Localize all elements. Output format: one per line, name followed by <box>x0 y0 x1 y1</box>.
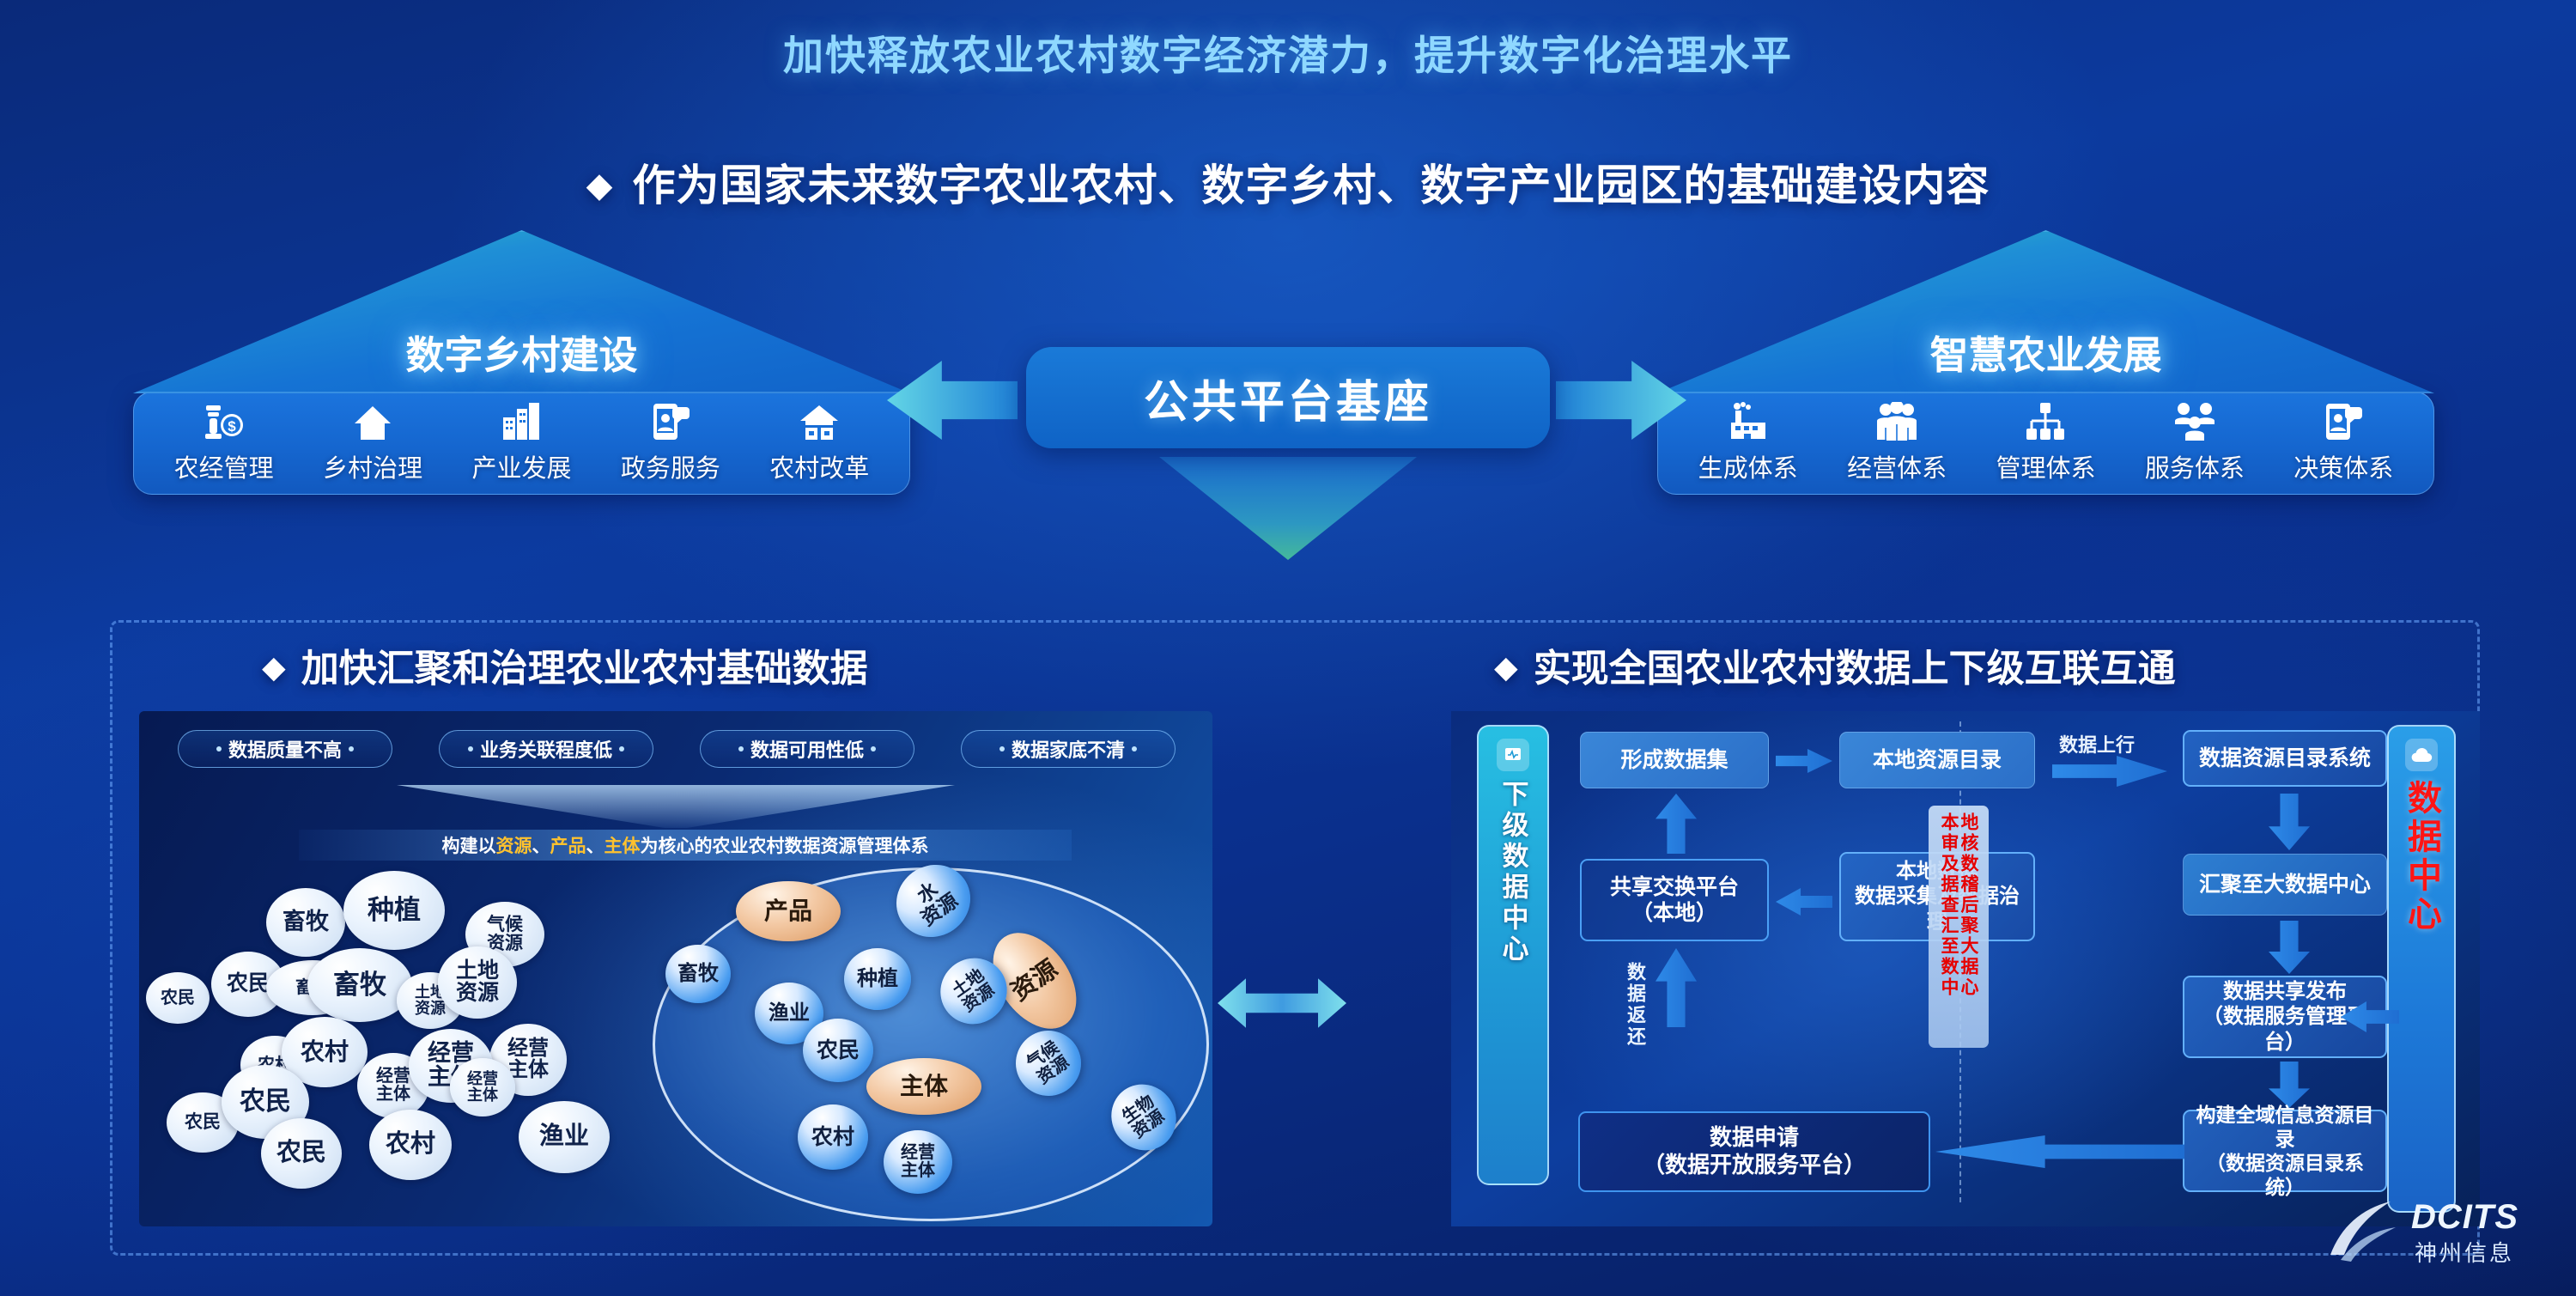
house-smart-agriculture: 智慧农业发展 生成体系 <box>1657 230 2434 495</box>
box-label: 数据资源目录系统 <box>2199 745 2371 772</box>
chaos-bubble: 农民 <box>146 972 210 1024</box>
chaotic-bubble-cloud: 农民农民畜牧畜牧种植气候 资源畜牧土地 资源土地 资源经营 主体农村农村经营 主… <box>139 871 689 1226</box>
feature-item-production-system[interactable]: 生成体系 <box>1677 402 1820 484</box>
bullet-dot-icon <box>871 746 876 751</box>
box-share-exchange-platform[interactable]: 共享交换平台 （本地） <box>1580 859 1769 941</box>
arrow-down-icon <box>2269 921 2310 974</box>
section-heading-left-text: 加快汇聚和治理农业农村基础数据 <box>301 648 868 690</box>
feature-label: 经营体系 <box>1847 448 1947 484</box>
problem-chip[interactable]: 业务关联程度低 <box>439 730 653 768</box>
banner-highlight-product: 产品 <box>550 832 586 858</box>
data-interconnect-panel: 下级数据中心 数据中心 形成数据集 本地资源目录 数据上行 数据资源目录系统 共… <box>1451 711 2480 1226</box>
mobile-service-icon <box>650 402 691 441</box>
arrow-left-icon <box>1935 1135 2184 1168</box>
feature-item-agri-econ[interactable]: $ 农经管理 <box>153 402 295 484</box>
bullet-dot-icon <box>216 746 222 751</box>
box-label: 本地资源目录 <box>1873 747 2002 774</box>
box-local-catalog[interactable]: 本地资源目录 <box>1839 732 2035 788</box>
monitor-icon <box>1497 739 1529 771</box>
problem-chip-label: 数据质量不高 <box>228 735 342 763</box>
feature-label: 服务体系 <box>2145 448 2245 484</box>
box-label: 汇聚至大数据中心 <box>2199 872 2371 898</box>
bullet-dot-icon <box>468 746 473 751</box>
home-icon <box>353 402 392 441</box>
arrow-down-icon <box>2269 1062 2310 1108</box>
organized-bubble: 主体 <box>866 1058 981 1115</box>
roof-left: 数字乡村建设 <box>133 230 910 393</box>
arrow-right-icon <box>1776 749 1832 773</box>
chaos-bubble: 渔业 <box>519 1101 610 1173</box>
feature-label: 农经管理 <box>174 448 274 484</box>
banner-suffix: 为核心的农业农村数据资源管理体系 <box>641 832 929 858</box>
bullet-dot-icon <box>349 746 354 751</box>
bullet-dot-icon <box>619 746 624 751</box>
problem-chip-label: 数据家底不清 <box>1012 735 1125 763</box>
cloud-icon <box>2405 739 2438 771</box>
arrow-down-icon <box>1159 457 1417 560</box>
roof-label-right: 智慧农业发展 <box>1657 324 2434 380</box>
organized-bubble: 种植 <box>844 948 911 1010</box>
red-note-left: 本审及据查汇至数中 <box>1940 812 1958 1041</box>
sub-data-center-label: 下级数据中心 <box>1494 780 1533 965</box>
feature-item-management-system[interactable]: 管理体系 <box>1974 402 2117 484</box>
chaos-bubble: 农村 <box>369 1110 452 1180</box>
box-label-line1: 数据申请 <box>1710 1124 1799 1152</box>
data-center-bar[interactable]: 数据中心 <box>2387 725 2456 1213</box>
mobile-decision-icon <box>2323 402 2364 441</box>
diamond-bullet-icon: ◆ <box>586 167 614 204</box>
problem-chip-label: 数据可用性低 <box>750 735 864 763</box>
organized-bubble: 气候 资源 <box>1003 1018 1094 1109</box>
data-return-label: 数据返还 <box>1621 962 1649 1048</box>
banner-sep: 、 <box>532 832 550 858</box>
section-heading-left: ◆加快汇聚和治理农业农村基础数据 <box>262 637 868 692</box>
feature-label: 产业发展 <box>471 448 571 484</box>
arrow-right-icon <box>2052 756 2167 787</box>
chaos-bubble: 种植 <box>343 871 445 950</box>
village-house-icon <box>799 402 840 441</box>
diamond-bullet-icon: ◆ <box>262 649 286 685</box>
people-group-icon <box>1874 402 1919 441</box>
banner-highlight-resource: 资源 <box>496 832 532 858</box>
organized-bubble: 生物 资源 <box>1098 1072 1188 1163</box>
box-label-line2: （数据开放服务平台） <box>1643 1152 1866 1179</box>
platform-label: 公共平台基座 <box>1144 366 1432 430</box>
banner-highlight-subject: 主体 <box>605 832 641 858</box>
buildings-icon <box>501 402 542 441</box>
problem-chip[interactable]: 数据可用性低 <box>700 730 914 768</box>
money-management-icon: $ <box>202 402 246 441</box>
bullet-dot-icon <box>1132 746 1137 751</box>
problem-chip-label: 业务关联程度低 <box>480 735 612 763</box>
page-subtitle-text: 作为国家未来数字农业农村、数字乡村、数字产业园区的基础建设内容 <box>632 161 1990 210</box>
problem-chip-row: 数据质量不高 业务关联程度低 数据可用性低 数据家底不清 <box>155 730 1199 768</box>
arrow-down-icon <box>2269 794 2310 850</box>
feature-item-village-governance[interactable]: 乡村治理 <box>301 402 444 484</box>
sub-data-center-bar[interactable]: 下级数据中心 <box>1477 725 1549 1185</box>
feature-label: 决策体系 <box>2293 448 2393 484</box>
box-label-line1: 数据共享发布 <box>2223 979 2347 1004</box>
logo-brand-text: DCITS <box>2411 1198 2518 1237</box>
box-label-line1: 共享交换平台 <box>1610 874 1739 901</box>
organized-bubble: 农村 <box>798 1104 868 1170</box>
roof-right: 智慧农业发展 <box>1657 230 2434 393</box>
diamond-bullet-icon: ◆ <box>1494 649 1518 685</box>
section-heading-right: ◆实现全国农业农村数据上下级互联互通 <box>1494 637 2176 692</box>
uplink-label: 数据上行 <box>2059 730 2135 758</box>
organized-bubble: 经营 主体 <box>884 1130 952 1194</box>
feature-item-gov-service[interactable]: 政务服务 <box>599 402 742 484</box>
feature-label: 乡村治理 <box>323 448 422 484</box>
organized-bubble: 产品 <box>736 881 841 941</box>
chaos-bubble: 土地 资源 <box>438 946 517 1019</box>
svg-text:$: $ <box>228 418 236 435</box>
house-digital-village: 数字乡村建设 $ 农经管理 乡村治理 <box>133 230 910 495</box>
public-platform-base[interactable]: 公共平台基座 <box>1026 347 1550 448</box>
problem-chip[interactable]: 数据家底不清 <box>961 730 1176 768</box>
feature-row-right: 生成体系 经营体系 <box>1657 392 2434 495</box>
banner-prefix: 构建以 <box>442 832 496 858</box>
org-chart-icon <box>2025 402 2066 441</box>
feature-item-decision-system[interactable]: 决策体系 <box>2272 402 2415 484</box>
data-center-label: 数据中心 <box>2397 780 2446 934</box>
red-note-right: 地核数稽后聚大据心 <box>1959 812 1978 1041</box>
organized-bubble: 农民 <box>803 1019 873 1082</box>
problem-chip[interactable]: 数据质量不高 <box>178 730 392 768</box>
arrow-up-icon <box>1656 948 1697 1027</box>
page-subtitle: ◆作为国家未来数字农业农村、数字乡村、数字产业园区的基础建设内容 <box>0 151 2576 213</box>
feature-item-service-system[interactable]: 服务体系 <box>2123 402 2266 484</box>
feature-label: 管理体系 <box>1996 448 2095 484</box>
box-form-dataset[interactable]: 形成数据集 <box>1580 732 1769 788</box>
banner-sep: 、 <box>586 832 605 858</box>
section-heading-right-text: 实现全国农业农村数据上下级互联互通 <box>1534 648 2176 690</box>
service-team-icon <box>2173 402 2216 441</box>
logo-cn-text: 神州信息 <box>2415 1236 2514 1268</box>
red-annotation-column: 地核数稽后聚大据心 本审及据查汇至数中 <box>1929 806 1989 1048</box>
slide-canvas: 加快释放农业农村数字经济潜力，提升数字化治理水平 ◆作为国家未来数字农业农村、数… <box>0 0 2576 1296</box>
bullet-dot-icon <box>738 746 744 751</box>
core-system-banner: 构建以资源、产品、主体为核心的农业农村数据资源管理体系 <box>299 830 1072 861</box>
chaos-bubble: 畜牧 <box>266 888 345 957</box>
chaos-bubble: 经营 主体 <box>450 1058 515 1117</box>
bullet-dot-icon <box>999 746 1005 751</box>
funnel-shape-icon <box>397 785 955 828</box>
arrow-left-icon <box>1776 888 1832 916</box>
factory-icon <box>1728 402 1769 441</box>
feature-item-operation-system[interactable]: 经营体系 <box>1826 402 1968 484</box>
data-governance-panel: 数据质量不高 业务关联程度低 数据可用性低 数据家底不清 构建以资源、产品、主体… <box>139 711 1212 1226</box>
box-label-line1: 构建全域信息资源目录 <box>2191 1103 2379 1151</box>
box-label: 形成数据集 <box>1620 747 1728 774</box>
chaos-bubble: 农民 <box>261 1118 342 1189</box>
chaos-bubble: 畜牧 <box>307 948 412 1022</box>
feature-label: 生成体系 <box>1698 448 1798 484</box>
feature-label: 政务服务 <box>621 448 720 484</box>
feature-label: 农村改革 <box>769 448 869 484</box>
feature-row-left: $ 农经管理 乡村治理 产业发展 <box>133 392 910 495</box>
organized-bubble: 水 资源 <box>882 850 984 952</box>
organized-bubble-cloud: 产品水 资源资源畜牧种植土地 资源渔业农民气候 资源主体生物 资源农村经营 主体 <box>641 862 1212 1226</box>
box-data-application[interactable]: 数据申请 （数据开放服务平台） <box>1578 1111 1930 1192</box>
box-catalog-system[interactable]: 数据资源目录系统 <box>2183 730 2387 787</box>
box-aggregate-to-big-data-center[interactable]: 汇聚至大数据中心 <box>2183 854 2387 916</box>
organized-bubble: 畜牧 <box>665 945 731 1003</box>
box-label-line2: （本地） <box>1631 900 1717 927</box>
page-title: 加快释放农业农村数字经济潜力，提升数字化治理水平 <box>0 22 2576 82</box>
company-logo: DCITS 神州信息 <box>2329 1179 2552 1281</box>
feature-item-industry-dev[interactable]: 产业发展 <box>450 402 592 484</box>
feature-item-rural-reform[interactable]: 农村改革 <box>748 402 890 484</box>
arrow-up-icon <box>1656 794 1697 854</box>
roof-label-left: 数字乡村建设 <box>133 324 910 380</box>
